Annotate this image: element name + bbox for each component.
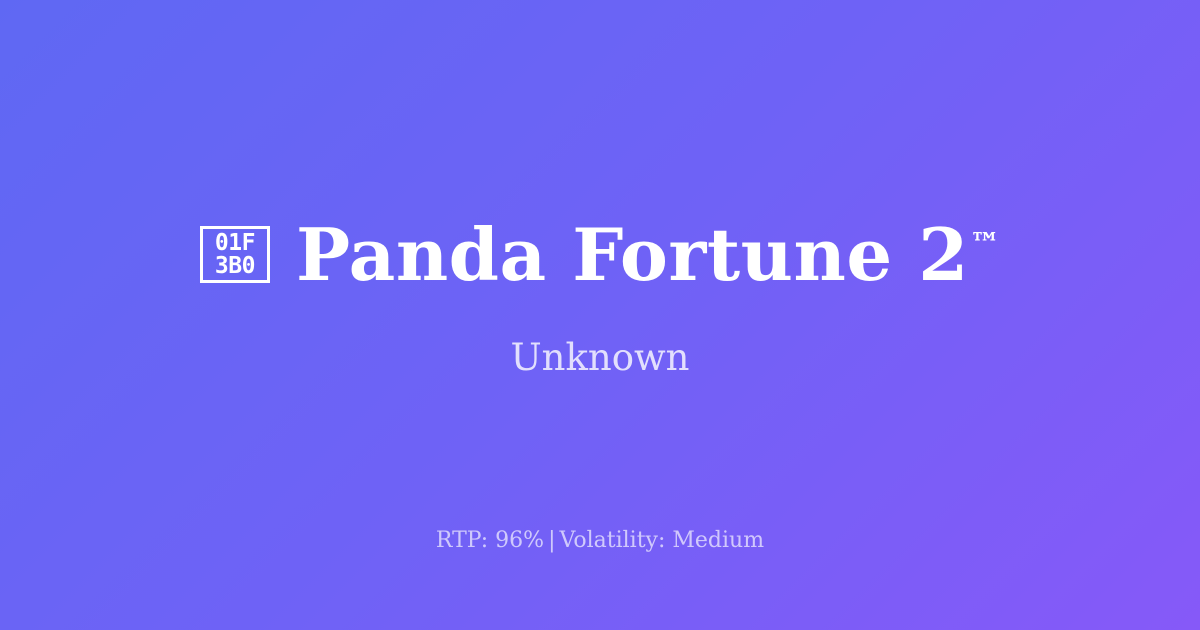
tofu-hex-top: 01F xyxy=(215,232,255,255)
provider-name: Unknown xyxy=(510,338,689,379)
meta-separator: | xyxy=(544,528,559,553)
volatility-value: Volatility: Medium xyxy=(560,528,765,553)
slot-machine-emoji-tofu-icon: 01F 3B0 xyxy=(200,226,270,283)
rtp-value: RTP: 96% xyxy=(436,528,544,553)
tofu-hex-bottom: 3B0 xyxy=(215,255,255,278)
title-row: 01F 3B0 Panda Fortune 2™ xyxy=(200,217,1000,293)
trademark-symbol: ™ xyxy=(970,227,1000,262)
game-title-text: Panda Fortune 2 xyxy=(296,212,969,297)
page-title: Panda Fortune 2™ xyxy=(296,217,1000,293)
game-meta-line: RTP: 96%|Volatility: Medium xyxy=(0,528,1200,554)
game-og-card: 01F 3B0 Panda Fortune 2™ Unknown RTP: 96… xyxy=(0,0,1200,630)
